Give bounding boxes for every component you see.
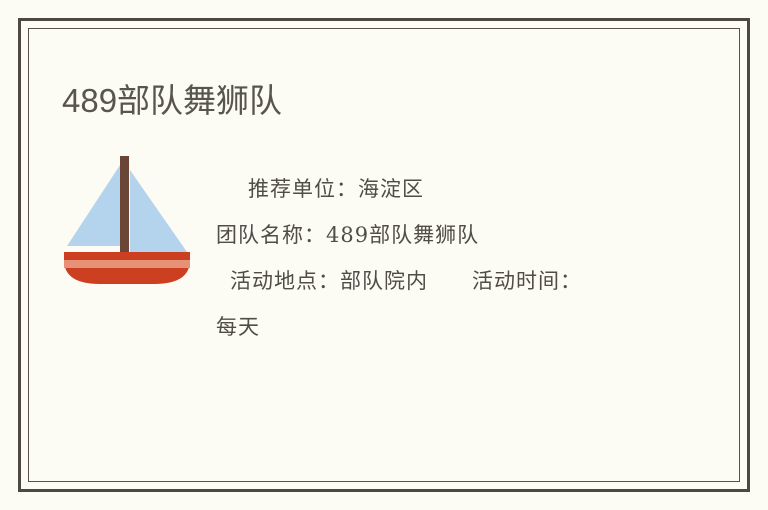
sail-right-shape [130,170,187,252]
article-page: 489部队舞狮队 推荐单位：海淀区 团队名称：489部 [0,0,768,510]
team-info-text: 推荐单位：海淀区 团队名称：489部队舞狮队 活动地点：部队院内 活动时间：每天 [216,148,586,350]
hull-stripe-shape [64,260,190,268]
team-info-block: 推荐单位：海淀区 团队名称：489部队舞狮队 活动地点：部队院内 活动时间：每天 [62,148,728,350]
mast-shape [120,156,129,256]
sailboat-icon [62,156,192,284]
page-content: 489部队舞狮队 推荐单位：海淀区 团队名称：489部 [28,28,740,482]
sailboat-illustration [62,148,202,284]
info-line-recommending-unit: 推荐单位：海淀区 [216,166,586,212]
page-title: 489部队舞狮队 [62,83,282,119]
sail-left-shape [67,162,122,246]
info-line-location-and-time: 活动地点：部队院内 活动时间：每天 [216,258,586,350]
info-line-team-name: 团队名称：489部队舞狮队 [216,212,586,258]
